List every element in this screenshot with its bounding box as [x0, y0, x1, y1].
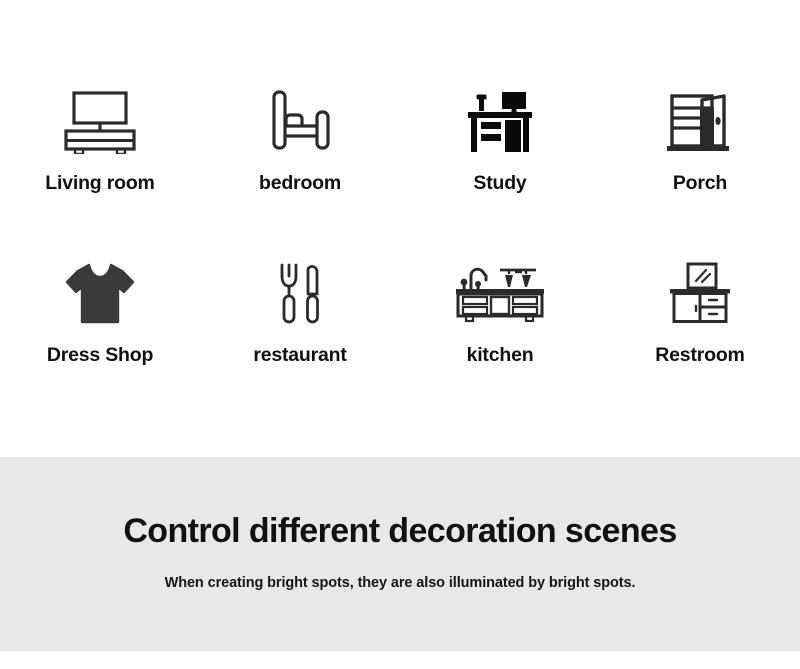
- study-desk-icon: [462, 86, 538, 158]
- scene-item-restaurant[interactable]: restaurant: [200, 258, 400, 390]
- scene-item-bedroom[interactable]: bedroom: [200, 86, 400, 218]
- scene-row-1: Living room bedroom: [0, 86, 800, 218]
- scene-item-kitchen[interactable]: kitchen: [400, 258, 600, 390]
- scene-item-restroom[interactable]: Restroom: [600, 258, 800, 390]
- banner-title: Control different decoration scenes: [123, 512, 676, 551]
- scene-label-kitchen: kitchen: [467, 346, 534, 366]
- banner-section: Control different decoration scenes When…: [0, 457, 800, 651]
- scene-label-living-room: Living room: [45, 174, 154, 194]
- living-room-tv-cabinet-icon: [58, 86, 142, 158]
- scene-item-study[interactable]: Study: [400, 86, 600, 218]
- scene-item-porch[interactable]: Porch: [600, 86, 800, 218]
- scene-label-bedroom: bedroom: [259, 174, 341, 194]
- scene-item-dress-shop[interactable]: Dress Shop: [0, 258, 200, 390]
- scene-icon-grid: Living room bedroom: [0, 0, 800, 457]
- dress-shop-tshirt-icon: [64, 258, 136, 330]
- bottom-white-strip: [0, 651, 800, 669]
- scene-label-porch: Porch: [673, 174, 727, 194]
- porch-shoe-cabinet-icon: [662, 86, 738, 158]
- restroom-vanity-mirror-icon: [662, 258, 738, 330]
- scene-label-restaurant: restaurant: [253, 346, 346, 366]
- restaurant-fork-knife-icon: [270, 258, 330, 330]
- scene-label-restroom: Restroom: [655, 346, 744, 366]
- scene-item-living-room[interactable]: Living room: [0, 86, 200, 218]
- kitchen-counter-icon: [452, 258, 548, 330]
- bedroom-bed-icon: [265, 86, 335, 158]
- banner-subtitle: When creating bright spots, they are als…: [165, 575, 636, 591]
- scene-row-2: Dress Shop: [0, 258, 800, 390]
- product-feature-page: Living room bedroom: [0, 0, 800, 669]
- scene-label-dress-shop: Dress Shop: [47, 346, 153, 366]
- scene-label-study: Study: [473, 174, 526, 194]
